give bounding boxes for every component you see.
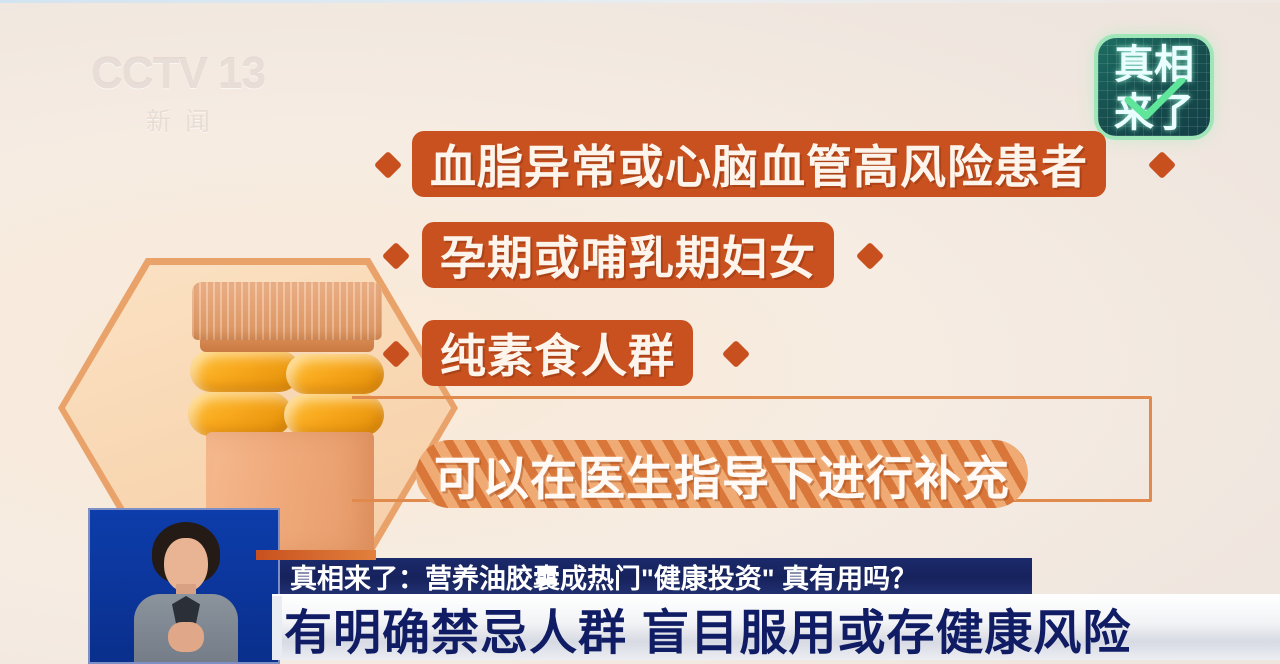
cctv-logo-main: CCTV 13 bbox=[78, 48, 278, 100]
lower-third-headline-text: 有明确禁忌人群 盲目服用或存健康风险 bbox=[284, 593, 1131, 663]
capsule bbox=[286, 354, 384, 394]
broadcast-stage: CCTV 13 新闻 真相 来了 bbox=[0, 0, 1280, 664]
lower-third-headline-bar: 有明确禁忌人群 盲目服用或存健康风险 bbox=[272, 594, 1280, 660]
bullet-banner-3: 纯素食人群 bbox=[422, 320, 693, 386]
bottle-neck bbox=[200, 338, 374, 352]
capsule bbox=[188, 392, 292, 436]
lower-third-subtitle-bar: 真相来了：营养油胶囊成热门"健康投资" 真有用吗？ bbox=[280, 558, 1032, 594]
capsule bbox=[190, 350, 300, 392]
lower-third-subtitle-text: 真相来了：营养油胶囊成热门"健康投资" 真有用吗？ bbox=[290, 557, 917, 596]
check-icon bbox=[1124, 78, 1186, 120]
headline-bar-left-pad bbox=[272, 596, 282, 660]
cctv13-watermark: CCTV 13 新闻 bbox=[78, 48, 278, 143]
diamond-marker-icon bbox=[1148, 151, 1176, 179]
diamond-marker-icon bbox=[856, 242, 884, 270]
diamond-marker-icon bbox=[382, 242, 410, 270]
diamond-marker-icon bbox=[722, 340, 750, 368]
bullet-banner-2: 孕期或哺乳期妇女 bbox=[422, 222, 834, 288]
program-logo: 真相 来了 bbox=[1090, 32, 1218, 142]
bullet-banner-4: 可以在医生指导下进行补充 bbox=[416, 440, 1028, 508]
anchor-hands bbox=[168, 622, 204, 652]
news-anchor-video-inset bbox=[88, 508, 280, 664]
bullet-banner-1: 血脂异常或心脑血管高风险患者 bbox=[412, 131, 1106, 197]
diamond-marker-icon bbox=[374, 151, 402, 179]
program-logo-box: 真相 来了 bbox=[1098, 38, 1210, 136]
subtitle-bar-tab bbox=[256, 550, 376, 560]
cctv-logo-sub: 新闻 bbox=[78, 102, 278, 138]
bottle-cap bbox=[192, 282, 382, 340]
top-edge-strip bbox=[0, 0, 1280, 3]
